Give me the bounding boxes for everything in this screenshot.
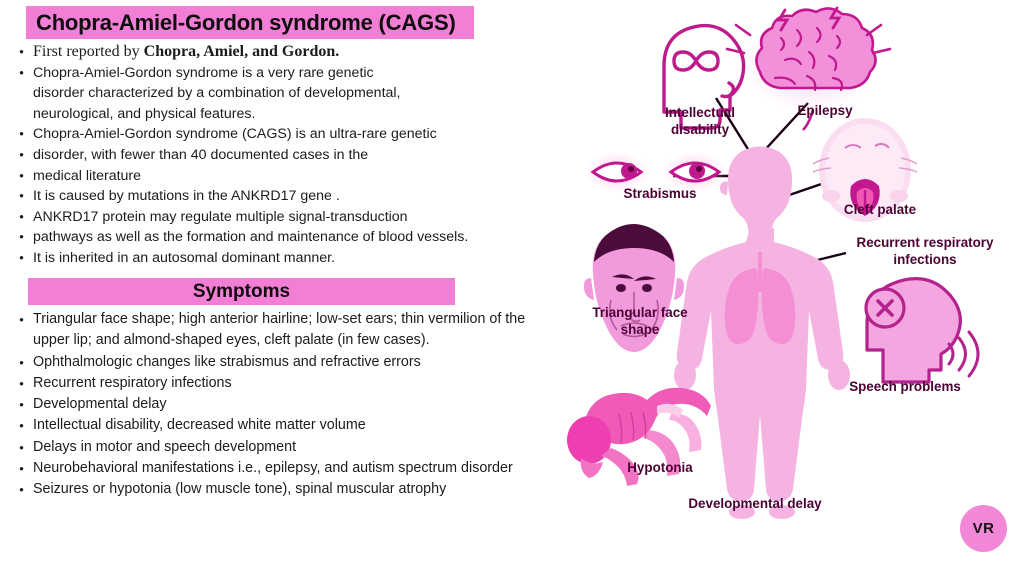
bullet-point-icon: • [10,63,33,84]
intro-bullet: •disorder characterized by a combination… [10,83,540,104]
label-intellectual-disability: Intellectual disability [640,105,760,138]
symptoms-heading: Symptoms [28,278,455,305]
symptom-bullet-text: Neurobehavioral manifestations i.e., epi… [33,458,540,479]
intro-bullet: •Chopra-Amiel-Gordon syndrome (CAGS) is … [10,124,540,145]
watermark-badge: VR [960,505,1007,552]
label-strabismus: Strabismus [600,186,720,203]
symptom-bullet: •Developmental delay [10,394,540,415]
symptom-bullet: •Seizures or hypotonia (low muscle tone)… [10,479,540,500]
intro-bullet: •disorder, with fewer than 40 documented… [10,145,540,166]
label-cleft-palate: Cleft palate [820,202,940,219]
bullet-point-icon: • [10,415,33,436]
label-epilepsy: Epilepsy [775,103,875,120]
label-speech-problems: Speech problems [825,379,985,396]
label-triangular-face-shape: Triangular face shape [565,305,715,338]
symptom-bullet-text: Developmental delay [33,394,540,415]
bullet-point-icon: • [10,42,33,63]
bullet-point-icon: • [10,227,33,248]
symptoms-heading-text: Symptoms [28,278,455,305]
intro-bullet-text: pathways as well as the formation and ma… [33,227,540,248]
emphasis-text: Chopra, Amiel, and Gordon. [144,43,340,60]
symptom-bullet-text: Delays in motor and speech development [33,437,540,458]
symptoms-bullet-list: •Triangular face shape; high anterior ha… [10,309,540,501]
page-title-text: Chopra-Amiel-Gordon syndrome (CAGS) [26,6,474,39]
page-title: Chopra-Amiel-Gordon syndrome (CAGS) [26,6,474,39]
intro-bullet-text: It is caused by mutations in the ANKRD17… [33,186,540,207]
intro-bullet: •ANKRD17 protein may regulate multiple s… [10,207,540,228]
symptom-bullet: •Intellectual disability, decreased whit… [10,415,540,436]
bullet-point-icon: • [10,248,33,269]
intro-bullet: •pathways as well as the formation and m… [10,227,540,248]
intro-bullet-list: •First reported by Chopra, Amiel, and Go… [10,42,540,269]
diagram-graphics [545,0,1024,569]
bullet-point-icon: • [10,479,33,500]
intro-bullet-text: First reported by Chopra, Amiel, and Gor… [33,42,540,63]
symptom-bullet: •Delays in motor and speech development [10,437,540,458]
label-recurrent-respiratory-infections: Recurrent respiratory infections [835,235,1015,268]
text-panel: Chopra-Amiel-Gordon syndrome (CAGS) •Fir… [0,0,545,569]
symptom-bullet-text: Ophthalmologic changes like strabismus a… [33,352,540,373]
intro-bullet: •First reported by Chopra, Amiel, and Go… [10,42,540,63]
intro-bullet: •Chopra-Amiel-Gordon syndrome is a very … [10,63,540,84]
bullet-point-icon: • [10,124,33,145]
symptom-bullet-text: Recurrent respiratory infections [33,373,540,394]
watermark-text: VR [973,520,995,537]
intro-bullet-text: disorder, with fewer than 40 documented … [33,145,540,166]
intro-bullet-text: Chopra-Amiel-Gordon syndrome is a very r… [33,63,540,84]
symptom-bullet: •Neurobehavioral manifestations i.e., ep… [10,458,540,479]
symptom-bullet: •Ophthalmologic changes like strabismus … [10,352,540,373]
bullet-point-icon: • [10,458,33,479]
symptom-bullet-text: Seizures or hypotonia (low muscle tone),… [33,479,540,500]
speech-problems-icon [866,279,978,382]
intro-bullet-text: Chopra-Amiel-Gordon syndrome (CAGS) is a… [33,124,540,145]
intro-bullet: •neurological, and physical features. [10,104,540,125]
symptom-diagram: Intellectual disability Epilepsy Strabis… [545,0,1024,569]
bullet-point-icon: • [10,309,33,330]
intro-bullet-text: neurological, and physical features. [33,104,540,125]
label-hypotonia: Hypotonia [590,460,730,477]
intro-bullet-text: medical literature [33,166,540,187]
bullet-point-icon: • [10,145,33,166]
symptom-bullet: •Recurrent respiratory infections [10,373,540,394]
intro-bullet: •It is inherited in an autosomal dominan… [10,248,540,269]
bullet-point-icon: • [10,437,33,458]
bullet-point-icon: • [10,186,33,207]
intro-bullet: •It is caused by mutations in the ANKRD1… [10,186,540,207]
bullet-point-icon: • [10,394,33,415]
symptom-bullet-text: Intellectual disability, decreased white… [33,415,540,436]
label-developmental-delay: Developmental delay [645,496,865,513]
bullet-point-icon: • [10,207,33,228]
bullet-point-icon: • [10,166,33,187]
intro-bullet-text: It is inherited in an autosomal dominant… [33,248,540,269]
symptom-bullet-text: Triangular face shape; high anterior hai… [33,309,540,352]
intro-bullet-text: disorder characterized by a combination … [33,83,540,104]
symptom-bullet: •Triangular face shape; high anterior ha… [10,309,540,352]
bullet-point-icon: • [10,373,33,394]
bullet-point-icon: • [10,352,33,373]
intro-bullet: •medical literature [10,166,540,187]
intro-bullet-text: ANKRD17 protein may regulate multiple si… [33,207,540,228]
